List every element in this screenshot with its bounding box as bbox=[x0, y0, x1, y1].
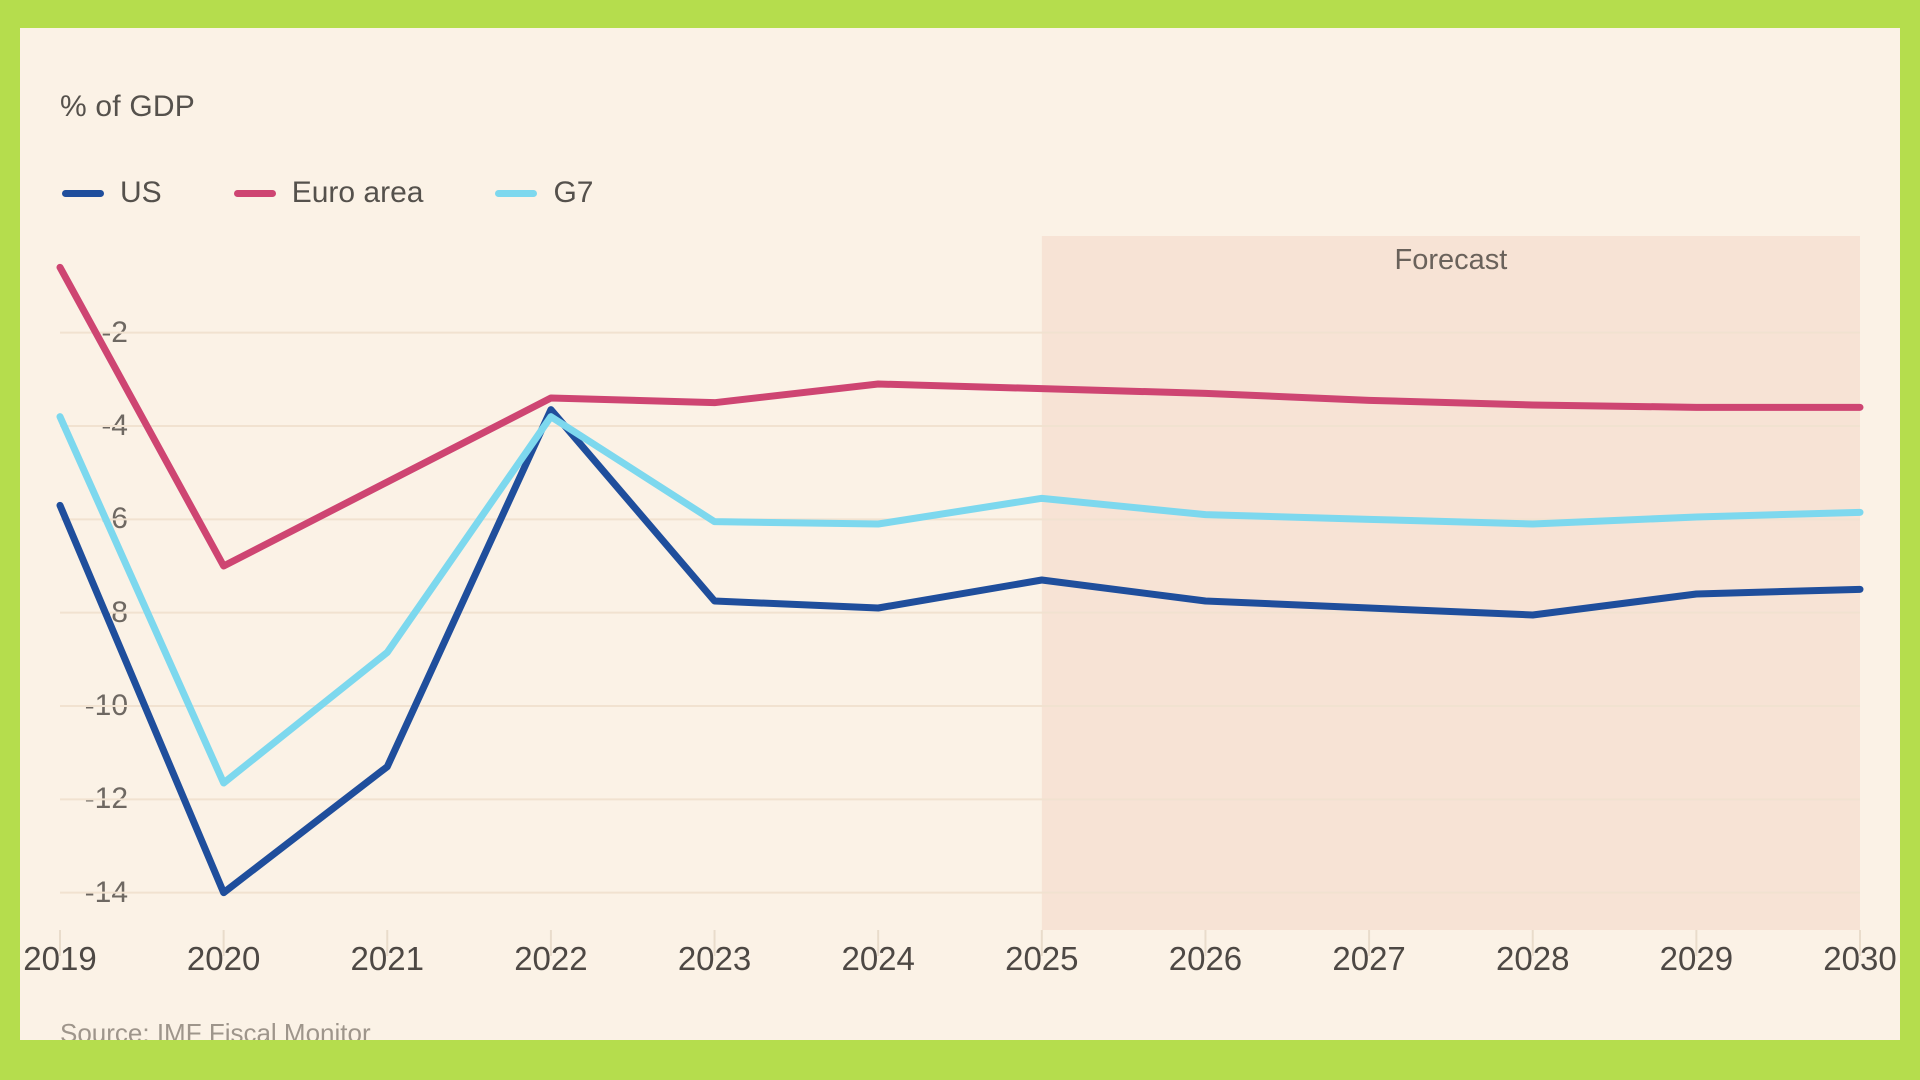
legend-item-us[interactable]: US bbox=[62, 176, 162, 210]
chart-legend: US Euro area G7 bbox=[62, 176, 665, 210]
legend-swatch-us bbox=[62, 190, 104, 197]
x-tick-label: 2026 bbox=[1169, 940, 1242, 978]
chart-card: % of GDP US Euro area G7 -2-4-6-8-10-12-… bbox=[20, 28, 1900, 1040]
legend-item-g7[interactable]: G7 bbox=[495, 176, 593, 210]
x-tick-label: 2020 bbox=[187, 940, 260, 978]
legend-label-euro-area: Euro area bbox=[292, 176, 424, 210]
x-tick-label: 2025 bbox=[1005, 940, 1078, 978]
legend-label-g7: G7 bbox=[553, 176, 593, 210]
legend-item-euro-area[interactable]: Euro area bbox=[234, 176, 424, 210]
chart-footnote: Source: IMF Fiscal Monitor bbox=[60, 1018, 371, 1040]
x-tick-label: 2030 bbox=[1823, 940, 1896, 978]
legend-label-us: US bbox=[120, 176, 162, 210]
forecast-band-label: Forecast bbox=[1394, 244, 1507, 277]
x-tick-label: 2021 bbox=[351, 940, 424, 978]
legend-swatch-g7 bbox=[495, 190, 537, 197]
x-tick-label: 2019 bbox=[23, 940, 96, 978]
chart-frame: % of GDP US Euro area G7 -2-4-6-8-10-12-… bbox=[0, 0, 1920, 1080]
axis-unit-label: % of GDP bbox=[60, 90, 195, 124]
line-chart-svg bbox=[60, 258, 1860, 930]
forecast-band bbox=[1042, 236, 1860, 930]
x-tick-label: 2027 bbox=[1332, 940, 1405, 978]
x-axis-tick-labels: 2019202020212022202320242025202620272028… bbox=[60, 940, 1860, 1000]
x-tick-label: 2022 bbox=[514, 940, 587, 978]
x-tick-label: 2029 bbox=[1660, 940, 1733, 978]
legend-swatch-euro-area bbox=[234, 190, 276, 197]
x-tick-label: 2023 bbox=[678, 940, 751, 978]
x-tick-label: 2028 bbox=[1496, 940, 1569, 978]
plot-area: Forecast bbox=[60, 258, 1860, 930]
x-tick-label: 2024 bbox=[841, 940, 914, 978]
